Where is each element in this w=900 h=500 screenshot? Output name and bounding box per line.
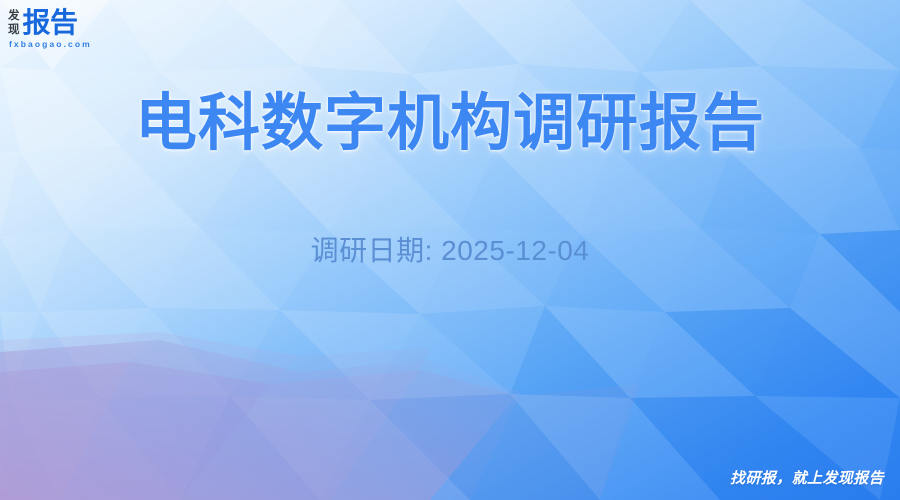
logo-char-xian: 现 xyxy=(8,23,20,37)
survey-date-subtitle: 调研日期: 2025-12-04 xyxy=(0,233,900,269)
logo-wordmark-row: 发 现 报告 xyxy=(8,8,78,38)
logo-stacked-chars: 发 现 xyxy=(8,8,20,38)
report-cover: 发 现 报告 fxbaogao.com 电科数字机构调研报告 调研日期: 202… xyxy=(0,0,900,500)
logo-char-fa: 发 xyxy=(8,9,20,23)
brand-logo[interactable]: 发 现 报告 fxbaogao.com xyxy=(8,8,92,52)
footer-tagline: 找研报，就上发现报告 xyxy=(730,469,884,489)
page-title: 电科数字机构调研报告 xyxy=(0,88,900,160)
logo-domain: fxbaogao.com xyxy=(9,39,92,50)
logo-wordmark: 报告 xyxy=(23,8,78,38)
